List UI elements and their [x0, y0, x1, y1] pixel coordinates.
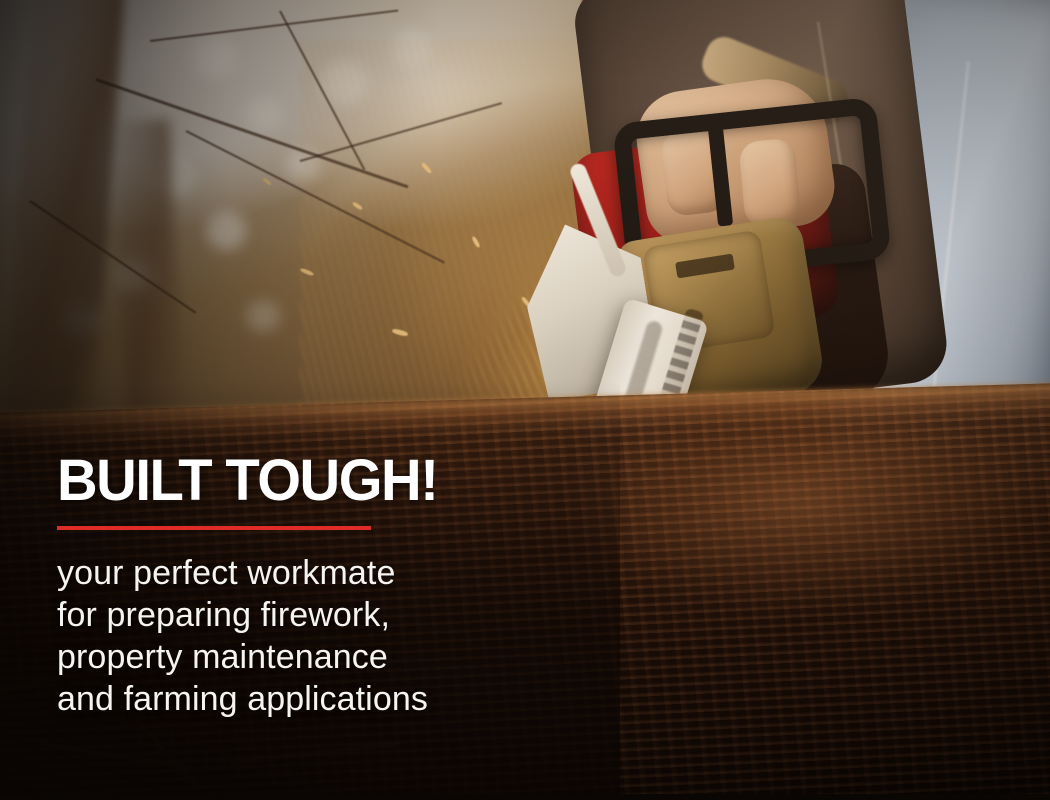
bark-highlight: [534, 393, 1050, 668]
accent-divider: [57, 526, 371, 530]
subcopy-line: and farming applications: [57, 678, 577, 720]
subcopy: your perfect workmate for preparing fire…: [57, 552, 577, 720]
headline: BUILT TOUGH!: [57, 452, 561, 510]
hero-banner: BAUMR-AG PRO BUILT TOUGH! your perfect w…: [0, 0, 1050, 800]
subcopy-line: property maintenance: [57, 636, 577, 678]
marketing-copy-block: BUILT TOUGH! your perfect workmate for p…: [57, 452, 577, 720]
subcopy-line: your perfect workmate: [57, 552, 577, 594]
subcopy-line: for preparing firework,: [57, 594, 577, 636]
